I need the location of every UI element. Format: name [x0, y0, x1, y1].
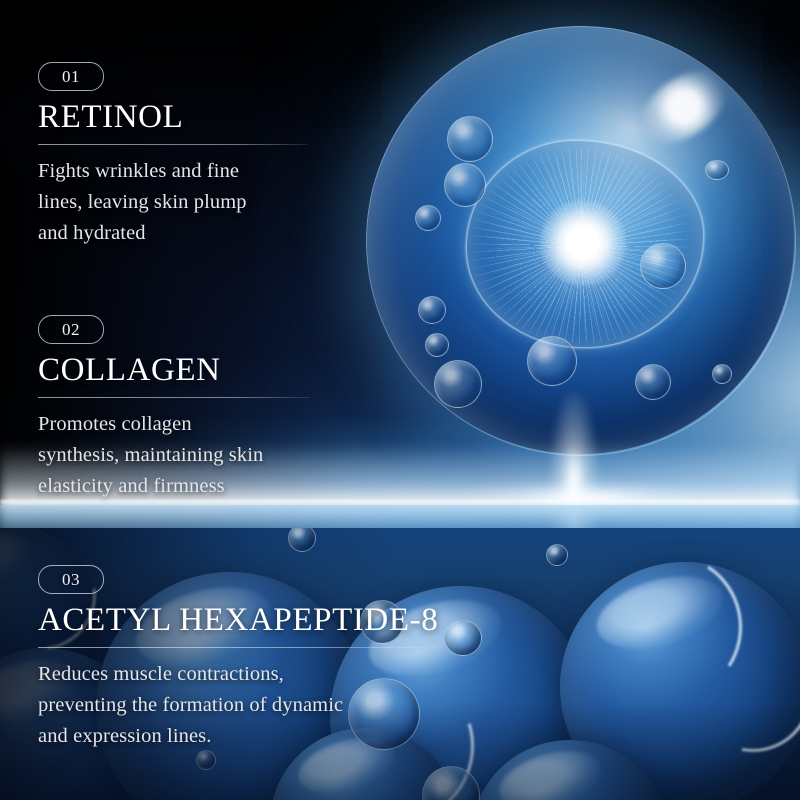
description-line: lines, leaving skin plump — [38, 187, 308, 218]
ingredient-title-03: ACETYL HEXAPEPTIDE-8 — [38, 603, 438, 638]
content-overlay: 01 RETINOL Fights wrinkles and fine line… — [0, 0, 800, 800]
description-line: synthesis, maintaining skin — [38, 440, 310, 471]
description-line: elasticity and firmness — [38, 471, 310, 502]
ingredient-title-01: RETINOL — [38, 100, 308, 135]
ingredient-block-03: 03 ACETYL HEXAPEPTIDE-8 Reduces muscle c… — [38, 565, 438, 772]
description-line: and hydrated — [38, 218, 308, 249]
step-badge-01: 01 — [38, 62, 104, 91]
infographic-canvas: 01 RETINOL Fights wrinkles and fine line… — [0, 0, 800, 800]
description-line: Promotes collagen — [38, 409, 310, 440]
description-line: Fights wrinkles and fine — [38, 156, 308, 187]
step-badge-02: 02 — [38, 315, 104, 344]
description-line: and expression lines. — [38, 721, 438, 752]
divider-03 — [38, 647, 438, 648]
ingredient-title-02: COLLAGEN — [38, 353, 310, 388]
description-line: preventing the formation of dynamic — [38, 690, 438, 721]
description-line: Reduces muscle contractions, — [38, 659, 438, 690]
ingredient-description-02: Promotes collagen synthesis, maintaining… — [38, 409, 310, 502]
ingredient-description-03: Reduces muscle contractions, preventing … — [38, 659, 438, 752]
ingredient-block-01: 01 RETINOL Fights wrinkles and fine line… — [38, 62, 308, 269]
divider-02 — [38, 397, 310, 398]
ingredient-block-02: 02 COLLAGEN Promotes collagen synthesis,… — [38, 315, 310, 522]
ingredient-description-01: Fights wrinkles and fine lines, leaving … — [38, 156, 308, 249]
step-badge-03: 03 — [38, 565, 104, 594]
divider-01 — [38, 144, 308, 145]
